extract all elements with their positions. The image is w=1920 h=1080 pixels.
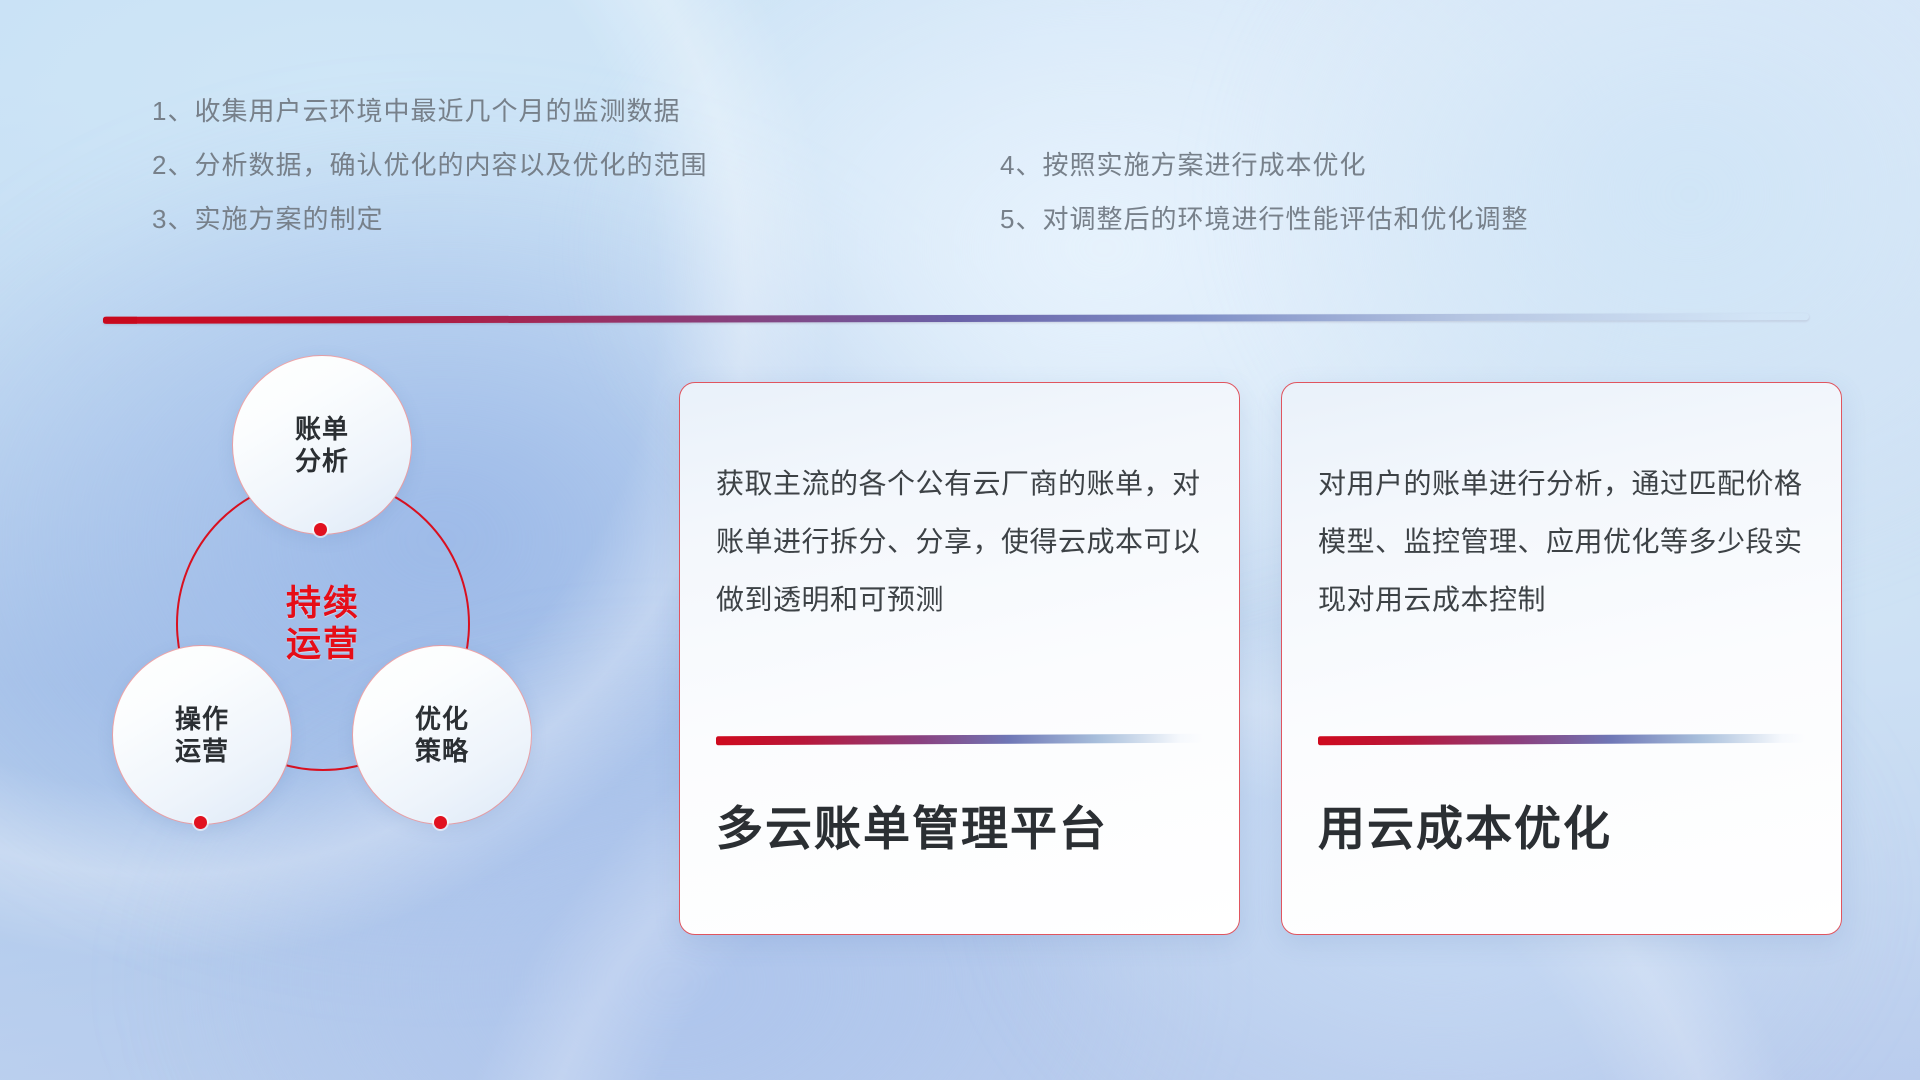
- venn-top-label-line2: 分析: [295, 445, 349, 477]
- venn-circle-optimization-strategy[interactable]: 优化 策略: [352, 645, 532, 825]
- venn-right-label-line2: 策略: [415, 735, 469, 767]
- venn-node-dot-top-icon: [314, 523, 327, 536]
- step-item-3: 3、实施方案的制定: [152, 206, 707, 232]
- venn-right-label-line1: 优化: [415, 703, 469, 735]
- info-card-1-body: 获取主流的各个公有云厂商的账单，对账单进行拆分、分享，使得云成本可以做到透明和可…: [716, 455, 1211, 629]
- info-card-2-body: 对用户的账单进行分析，通过匹配价格模型、监控管理、应用优化等多少段实现对用云成本…: [1318, 455, 1813, 629]
- venn-circle-operations[interactable]: 操作 运营: [112, 645, 292, 825]
- info-card-cloud-cost-optimization[interactable]: 对用户的账单进行分析，通过匹配价格模型、监控管理、应用优化等多少段实现对用云成本…: [1281, 382, 1842, 935]
- info-card-2-title: 用云成本优化: [1318, 801, 1813, 857]
- venn-node-dot-right-icon: [434, 816, 447, 829]
- venn-center-label-line2: 运营: [286, 624, 360, 665]
- steps-right-column: 4、按照实施方案进行成本优化 5、对调整后的环境进行性能评估和优化调整: [1000, 152, 1528, 232]
- venn-top-label-line1: 账单: [295, 413, 349, 445]
- slide-canvas: 1、收集用户云环境中最近几个月的监测数据 2、分析数据，确认优化的内容以及优化的…: [0, 0, 1920, 1080]
- step-item-1: 1、收集用户云环境中最近几个月的监测数据: [152, 98, 707, 124]
- info-card-multicloud-billing[interactable]: 获取主流的各个公有云厂商的账单，对账单进行拆分、分享，使得云成本可以做到透明和可…: [679, 382, 1240, 935]
- venn-left-label-line1: 操作: [175, 703, 229, 735]
- step-item-5: 5、对调整后的环境进行性能评估和优化调整: [1000, 206, 1528, 232]
- venn-top-label: 账单 分析: [295, 413, 349, 477]
- venn-left-label-line2: 运营: [175, 735, 229, 767]
- info-card-1-title: 多云账单管理平台: [716, 801, 1211, 857]
- venn-node-dot-left-icon: [194, 816, 207, 829]
- venn-center-label-line1: 持续: [286, 583, 360, 624]
- venn-center-label: 持续 运营: [286, 583, 360, 666]
- venn-diagram: 持续 运营 账单 分析 操作 运营 优化 策略: [95, 355, 555, 945]
- venn-right-label: 优化 策略: [415, 703, 469, 767]
- venn-circle-bill-analysis[interactable]: 账单 分析: [232, 355, 412, 535]
- step-item-4: 4、按照实施方案进行成本优化: [1000, 152, 1528, 178]
- info-card-2-accent-rule: [1318, 734, 1806, 746]
- step-item-2: 2、分析数据，确认优化的内容以及优化的范围: [152, 152, 707, 178]
- venn-left-label: 操作 运营: [175, 703, 229, 767]
- info-card-1-accent-rule: [716, 734, 1204, 746]
- steps-left-column: 1、收集用户云环境中最近几个月的监测数据 2、分析数据，确认优化的内容以及优化的…: [152, 98, 707, 232]
